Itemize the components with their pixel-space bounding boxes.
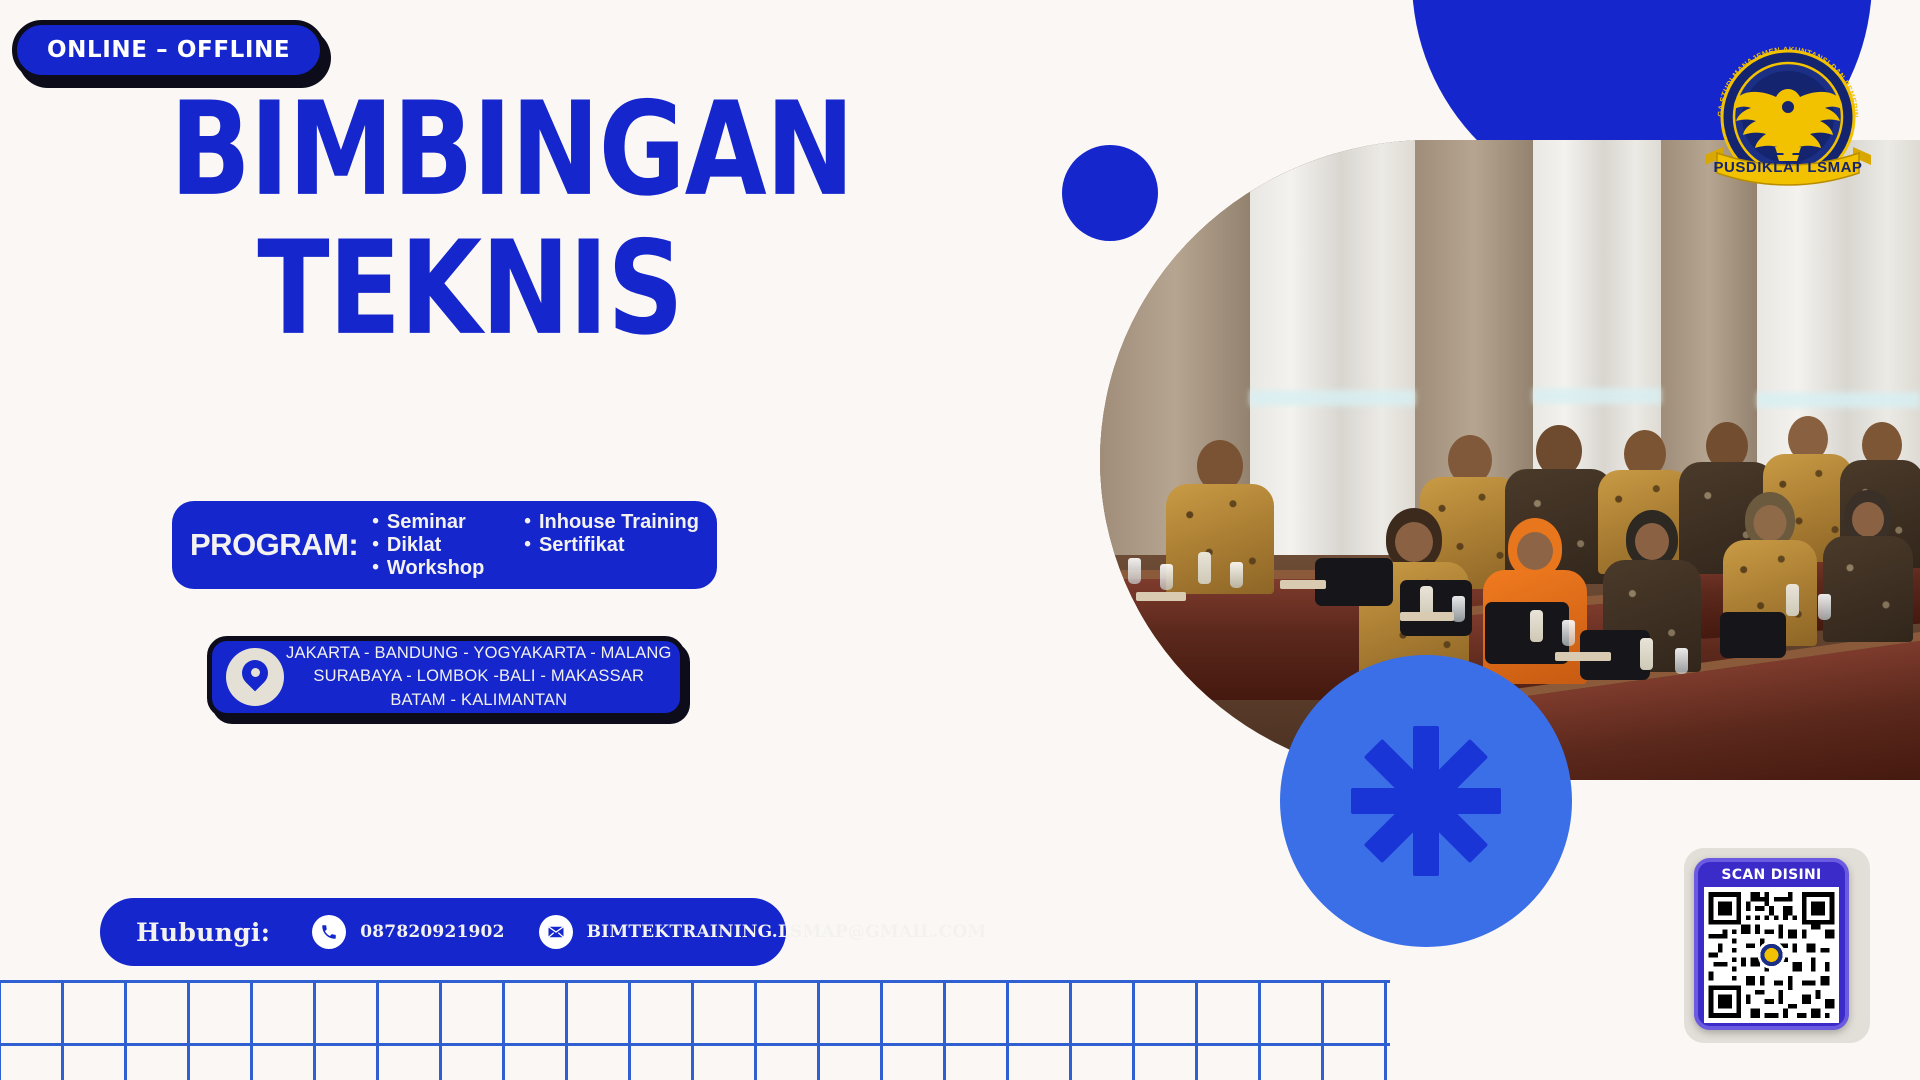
phone-icon bbox=[312, 915, 346, 949]
program-item: • Sertifikat bbox=[524, 535, 699, 556]
qr-title: SCAN DISINI bbox=[1704, 866, 1839, 884]
program-column-2: • Inhouse Training • Sertifikat bbox=[524, 512, 699, 579]
bullet-icon: • bbox=[372, 535, 379, 554]
contact-label: Hubungi: bbox=[136, 918, 270, 947]
program-label: PROGRAM: bbox=[190, 527, 358, 563]
location-line: SURABAYA - LOMBOK -BALI - MAKASSAR bbox=[286, 665, 672, 688]
location-line: BATAM - KALIMANTAN bbox=[286, 689, 672, 712]
bullet-icon: • bbox=[372, 558, 379, 577]
page-title: BIMBINGAN TEKNIS bbox=[170, 95, 770, 323]
bullet-icon: • bbox=[372, 512, 379, 531]
online-offline-label: ONLINE – OFFLINE bbox=[47, 37, 290, 63]
contact-bar: Hubungi: 087820921902 BIMTEKTRAINING.LSM… bbox=[100, 898, 786, 966]
asterisk-icon bbox=[1280, 655, 1572, 947]
location-box: JAKARTA - BANDUNG - YOGYAKARTA - MALANG … bbox=[207, 636, 685, 718]
program-item-label: Workshop bbox=[387, 558, 484, 579]
program-item-label: Inhouse Training bbox=[539, 512, 699, 533]
garuda-emblem-icon: LEMBAGA STUDI MANAJEMEN AKUNTANSI DAN PE… bbox=[1697, 35, 1879, 190]
page-title-line-1: BIMBINGAN bbox=[170, 95, 770, 204]
program-item-label: Seminar bbox=[387, 512, 466, 533]
decor-grid-pattern bbox=[0, 980, 1390, 1080]
contact-phone[interactable]: 087820921902 bbox=[312, 915, 504, 949]
program-column-1: • Seminar • Diklat • Workshop bbox=[372, 512, 484, 579]
logo-ribbon-text: PUSDIKLAT LSMAP bbox=[1714, 159, 1863, 176]
phone-number: 087820921902 bbox=[360, 922, 504, 942]
poster-canvas: ONLINE – OFFLINE BIMBINGAN TEKNIS PROGRA… bbox=[0, 0, 1920, 1080]
map-pin-icon bbox=[226, 648, 284, 706]
program-item-label: Diklat bbox=[387, 535, 441, 556]
program-item-label: Sertifikat bbox=[539, 535, 625, 556]
qr-code-image[interactable] bbox=[1704, 887, 1839, 1023]
online-offline-badge: ONLINE – OFFLINE bbox=[12, 20, 325, 80]
email-address: BIMTEKTRAINING.LSMAP@GMAIL.COM bbox=[587, 922, 987, 942]
bullet-icon: • bbox=[524, 512, 531, 531]
program-item: • Diklat bbox=[372, 535, 484, 556]
program-item: • Seminar bbox=[372, 512, 484, 533]
email-icon bbox=[539, 915, 573, 949]
program-item: • Inhouse Training bbox=[524, 512, 699, 533]
location-line: JAKARTA - BANDUNG - YOGYAKARTA - MALANG bbox=[286, 642, 672, 665]
bullet-icon: • bbox=[524, 535, 531, 554]
program-box: PROGRAM: • Seminar • Diklat • Workshop • bbox=[172, 501, 717, 589]
program-item: • Workshop bbox=[372, 558, 484, 579]
page-title-line-2: TEKNIS bbox=[170, 234, 770, 343]
contact-email[interactable]: BIMTEKTRAINING.LSMAP@GMAIL.COM bbox=[539, 915, 987, 949]
qr-card[interactable]: SCAN DISINI bbox=[1694, 858, 1849, 1030]
